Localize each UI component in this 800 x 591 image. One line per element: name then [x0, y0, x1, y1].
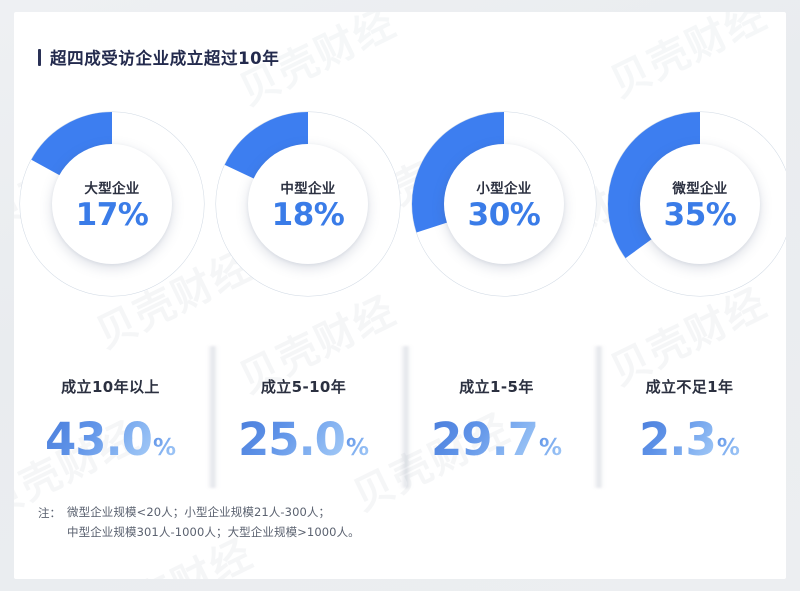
donut-chart: 大型企业17% — [14, 100, 210, 308]
stat-number: 25.0 — [238, 417, 345, 462]
infographic-page: 贝壳财经 贝壳财经 贝壳财经 贝壳财经 贝壳财经 贝壳财经 贝壳财经 贝壳财经 … — [0, 0, 800, 591]
footnote-lines: 微型企业规模<20人；小型企业规模21人-300人； 中型企业规模301人-10… — [67, 504, 360, 540]
stat-cell: 成立1-5年29.7% — [400, 342, 593, 492]
stat-label: 成立不足1年 — [646, 376, 734, 397]
title-accent-bar — [38, 49, 41, 66]
stat-number: 43.0 — [45, 417, 152, 462]
stat-row: 成立10年以上43.0%成立5-10年25.0%成立1-5年29.7%成立不足1… — [14, 342, 786, 492]
stat-label: 成立5-10年 — [261, 376, 346, 397]
donut-chart-row: 大型企业17%中型企业18%小型企业30%微型企业35% — [14, 100, 786, 318]
donut-chart: 中型企业18% — [210, 100, 406, 308]
donut-cell: 微型企业35% — [602, 100, 786, 318]
footnote-prefix: 注： — [38, 504, 61, 540]
stat-label: 成立1-5年 — [459, 376, 534, 397]
stat-percent-sign: % — [717, 437, 740, 460]
donut-chart: 小型企业30% — [406, 100, 602, 308]
footnote-line: 中型企业规模301人-1000人；大型企业规模>1000人。 — [67, 524, 360, 540]
donut-value: 30% — [468, 199, 541, 232]
page-title: 超四成受访企业成立超过10年 — [38, 45, 279, 69]
donut-chart: 微型企业35% — [602, 100, 786, 308]
donut-center: 大型企业17% — [52, 144, 172, 264]
stat-cell: 成立5-10年25.0% — [207, 342, 400, 492]
donut-cell: 大型企业17% — [14, 100, 210, 318]
stat-label: 成立10年以上 — [61, 376, 160, 397]
stat-number: 29.7 — [431, 417, 538, 462]
donut-cell: 小型企业30% — [406, 100, 602, 318]
stat-number: 2.3 — [639, 417, 716, 462]
donut-value: 18% — [272, 199, 345, 232]
stat-value: 43.0% — [45, 417, 176, 462]
footnote: 注： 微型企业规模<20人；小型企业规模21人-300人； 中型企业规模301人… — [38, 504, 360, 540]
content-card: 贝壳财经 贝壳财经 贝壳财经 贝壳财经 贝壳财经 贝壳财经 贝壳财经 贝壳财经 … — [14, 12, 786, 579]
page-title-text: 超四成受访企业成立超过10年 — [50, 45, 279, 69]
stat-percent-sign: % — [153, 437, 176, 460]
donut-value: 17% — [76, 199, 149, 232]
stat-value: 2.3% — [639, 417, 740, 462]
stat-cell: 成立10年以上43.0% — [14, 342, 207, 492]
donut-label: 大型企业 — [84, 177, 139, 197]
donut-center: 中型企业18% — [248, 144, 368, 264]
donut-center: 小型企业30% — [444, 144, 564, 264]
donut-value: 35% — [664, 199, 737, 232]
donut-center: 微型企业35% — [640, 144, 760, 264]
donut-label: 中型企业 — [280, 177, 335, 197]
stat-value: 29.7% — [431, 417, 562, 462]
stat-value: 25.0% — [238, 417, 369, 462]
donut-label: 微型企业 — [672, 177, 727, 197]
donut-cell: 中型企业18% — [210, 100, 406, 318]
watermark-text: 贝壳财经 — [599, 12, 775, 109]
footnote-line: 微型企业规模<20人；小型企业规模21人-300人； — [67, 504, 360, 520]
donut-label: 小型企业 — [476, 177, 531, 197]
stat-percent-sign: % — [539, 437, 562, 460]
stat-percent-sign: % — [346, 437, 369, 460]
stat-cell: 成立不足1年2.3% — [593, 342, 786, 492]
